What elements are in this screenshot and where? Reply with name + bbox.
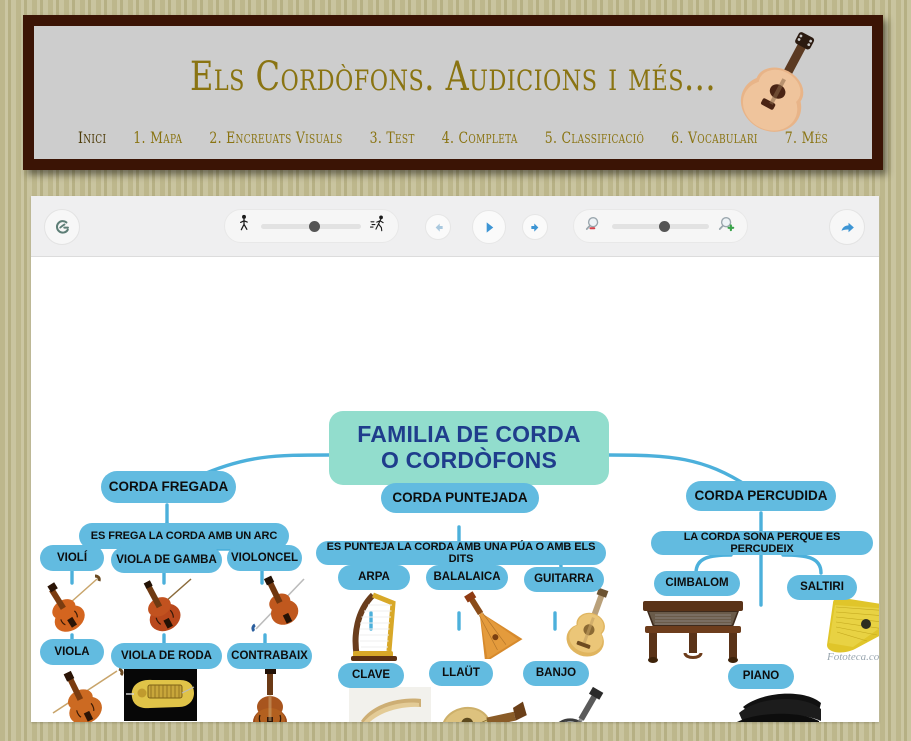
site-header-banner: Els Cordòfons. Audicions i més... [23,15,883,170]
zoom-out-icon [585,215,603,238]
mindmap-root-node[interactable]: FAMILIA DE CORDA O CORDÒFONS [329,411,609,485]
cello-image [246,571,320,637]
viola-de-gamba-image [127,575,207,637]
main-navigation[interactable]: Inici 1. Mapa 2. Encreuats Visuals 3. Te… [34,132,872,147]
speed-slider-group[interactable] [224,209,399,243]
leaf-node-llaut[interactable]: LLAÜT [429,661,493,686]
viola-image [39,667,131,722]
leaf-node-clave[interactable]: CLAVE [338,663,404,688]
guitar-image [555,587,625,661]
leaf-node-banjo[interactable]: BANJO [523,661,589,686]
presentation-embed-panel: FAMILIA DE CORDA O CORDÒFONS CORDA FREGA… [31,196,879,722]
nav-item-inici[interactable]: Inici [78,128,106,148]
leaf-node-viola[interactable]: VIOLA [40,639,104,665]
nav-item-classificacio[interactable]: 5. Classificació [545,128,644,148]
violin-image [37,573,113,635]
nav-item-mes[interactable]: 7. Més [785,128,828,148]
description-node-corda-percudida[interactable]: LA CORDA SONA PERQUE ES PERCUDEIX [651,531,873,555]
previous-slide-button[interactable] [425,214,451,240]
cimbalom-image [639,597,749,663]
walking-person-icon [236,214,252,239]
nav-item-vocabulari[interactable]: 6. Vocabulari [671,128,758,148]
banjo-image [539,685,619,722]
branch-node-corda-percudida[interactable]: CORDA PERCUDIDA [686,481,836,511]
leaf-node-piano[interactable]: PIANO [728,664,794,689]
mindmap-stage[interactable]: FAMILIA DE CORDA O CORDÒFONS CORDA FREGA… [31,257,879,722]
grand-piano-image [723,689,827,722]
header-inner-panel: Els Cordòfons. Audicions i més... [34,26,872,159]
leaf-node-cimbalom[interactable]: CIMBALOM [654,571,740,596]
running-person-icon [370,214,387,239]
branch-node-corda-puntejada[interactable]: CORDA PUNTEJADA [381,483,539,513]
zoom-in-icon [718,215,736,238]
nav-item-mapa[interactable]: 1. Mapa [133,128,182,148]
description-node-corda-puntejada[interactable]: ES PUNTEJA LA CORDA AMB UNA PÚA O AMB EL… [316,541,606,565]
leaf-node-violi[interactable]: VIOLÍ [40,545,104,571]
speed-slider-track[interactable] [261,224,361,229]
leaf-node-contrabaix[interactable]: CONTRABAIX [227,643,312,669]
player-toolbar [31,196,879,257]
leaf-node-balalaica[interactable]: BALALAICA [426,565,508,590]
leaf-node-viola-de-roda[interactable]: VIOLA DE RODA [111,643,222,669]
next-slide-button[interactable] [522,214,548,240]
double-bass-image [241,667,299,722]
hurdy-gurdy-image [124,669,197,721]
play-button[interactable] [472,210,506,244]
genially-logo-icon[interactable] [44,209,80,245]
branch-node-corda-fregada[interactable]: CORDA FREGADA [101,471,236,503]
root-label-line2: O CORDÒFONS [381,448,557,474]
nav-item-test[interactable]: 3. Test [370,128,415,148]
nav-item-completa[interactable]: 4. Completa [442,128,518,148]
lute-image [431,685,529,722]
zoom-slider-track[interactable] [612,224,709,229]
root-label-line1: FAMILIA DE CORDA [357,422,580,448]
zoom-slider-group[interactable] [573,209,748,243]
leaf-node-guitarra[interactable]: GUITARRA [524,567,604,592]
speed-slider-knob[interactable] [309,221,320,232]
harp-image [343,589,407,663]
leaf-node-violoncel[interactable]: VIOLONCEL [227,545,302,571]
leaf-node-viola-de-gamba[interactable]: VIOLA DE GAMBA [111,547,222,573]
nav-item-encreuats-visuals[interactable]: 2. Encreuats Visuals [209,128,342,148]
leaf-node-arpa[interactable]: ARPA [338,565,410,590]
zoom-slider-knob[interactable] [659,221,670,232]
share-arrow-icon[interactable] [829,209,865,245]
harpsichord-image [349,687,431,722]
leaf-node-saltiri[interactable]: SALTIRI [787,575,857,600]
balalaika-image [451,587,527,659]
